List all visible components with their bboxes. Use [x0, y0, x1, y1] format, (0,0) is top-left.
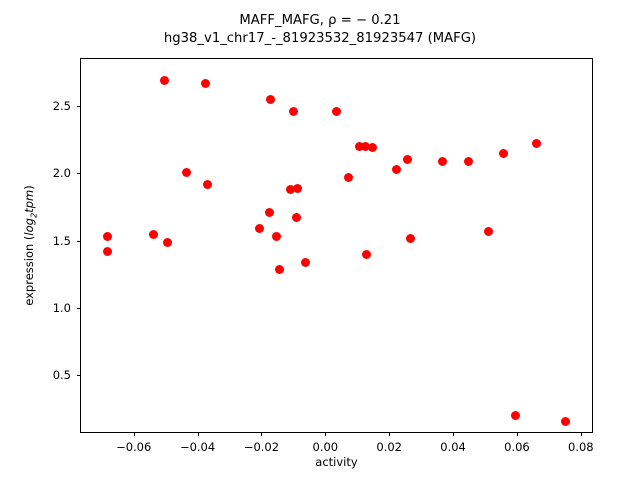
scatter-point — [255, 224, 264, 233]
y-tick-mark — [77, 375, 81, 376]
chart-title: MAFF_MAFG, ρ = − 0.21 hg38_v1_chr17_-_81… — [0, 12, 640, 48]
y-axis-label: expression (log2tpm) — [22, 58, 40, 433]
scatter-point — [484, 227, 493, 236]
x-tick-mark — [389, 432, 390, 436]
y-tick-mark — [77, 173, 81, 174]
y-tick-mark — [77, 106, 81, 107]
plot-axes-frame: −0.06−0.04−0.020.000.020.040.060.08 0.51… — [80, 58, 593, 433]
scatter-point — [532, 139, 541, 148]
scatter-points-layer — [81, 59, 592, 432]
scatter-point — [332, 107, 341, 116]
scatter-point — [438, 157, 447, 166]
chart-title-line-2: hg38_v1_chr17_-_81923532_81923547 (MAFG) — [0, 30, 640, 48]
y-tick-label: 2.5 — [53, 99, 71, 113]
y-tick-label: 2.0 — [53, 166, 71, 180]
scatter-point — [292, 213, 301, 222]
y-axis-label-log: log — [22, 218, 36, 236]
y-axis-label-suffix: ) — [22, 185, 36, 190]
scatter-point — [406, 234, 415, 243]
scatter-point — [265, 208, 274, 217]
scatter-point — [344, 173, 353, 182]
scatter-point — [362, 250, 371, 259]
x-tick-label: 0.00 — [313, 440, 339, 454]
scatter-point — [301, 258, 310, 267]
x-tick-mark — [453, 432, 454, 436]
x-tick-label: 0.06 — [504, 440, 530, 454]
x-tick-mark — [134, 432, 135, 436]
scatter-point — [163, 238, 172, 247]
y-tick-label: 0.5 — [53, 368, 71, 382]
y-axis-label-unit: tpm — [22, 190, 36, 213]
x-tick-mark — [581, 432, 582, 436]
scatter-point — [103, 232, 112, 241]
scatter-point — [392, 165, 401, 174]
x-tick-mark — [517, 432, 518, 436]
scatter-point — [272, 232, 281, 241]
x-tick-label: −0.04 — [180, 440, 215, 454]
x-tick-label: −0.02 — [244, 440, 279, 454]
y-axis-label-base: 2 — [28, 213, 38, 218]
scatter-point — [203, 180, 212, 189]
x-tick-mark — [325, 432, 326, 436]
x-tick-label: 0.08 — [568, 440, 594, 454]
scatter-point — [293, 184, 302, 193]
scatter-point — [289, 107, 298, 116]
y-axis-label-prefix: expression ( — [22, 236, 36, 306]
scatter-point — [403, 155, 412, 164]
chart-title-line-1: MAFF_MAFG, ρ = − 0.21 — [0, 12, 640, 30]
scatter-plot-figure: MAFF_MAFG, ρ = − 0.21 hg38_v1_chr17_-_81… — [0, 0, 640, 480]
scatter-point — [368, 143, 377, 152]
x-tick-label: −0.06 — [116, 440, 151, 454]
x-axis-label: activity — [80, 455, 593, 469]
scatter-point — [511, 411, 520, 420]
y-tick-label: 1.0 — [53, 301, 71, 315]
scatter-point — [182, 168, 191, 177]
scatter-point — [266, 95, 275, 104]
scatter-point — [201, 79, 210, 88]
x-tick-mark — [198, 432, 199, 436]
x-tick-label: 0.04 — [440, 440, 466, 454]
y-tick-mark — [77, 241, 81, 242]
scatter-point — [499, 149, 508, 158]
scatter-point — [149, 230, 158, 239]
y-tick-mark — [77, 308, 81, 309]
x-tick-mark — [261, 432, 262, 436]
scatter-point — [160, 76, 169, 85]
scatter-point — [275, 265, 284, 274]
y-tick-label: 1.5 — [53, 234, 71, 248]
scatter-point — [103, 247, 112, 256]
x-tick-label: 0.02 — [376, 440, 402, 454]
scatter-point — [464, 157, 473, 166]
scatter-point — [561, 417, 570, 426]
